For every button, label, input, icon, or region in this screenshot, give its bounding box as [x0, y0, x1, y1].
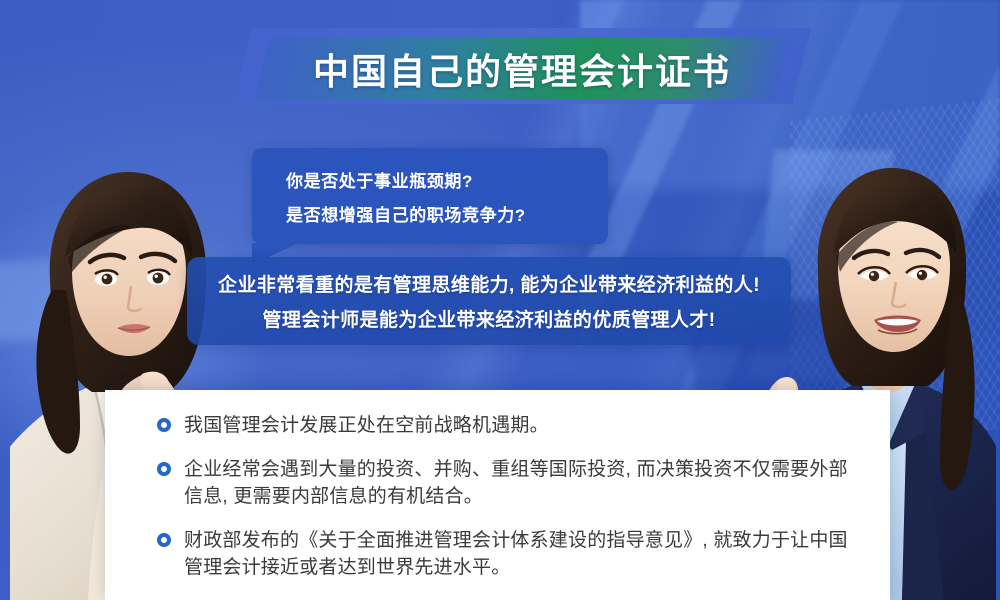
bullet-card: 我国管理会计发展正处在空前战略机遇期。 企业经常会遇到大量的投资、并购、重组等国… — [105, 390, 890, 600]
question-line-1: 你是否处于事业瓶颈期? — [286, 167, 608, 192]
bullet-ring-icon — [157, 418, 171, 432]
question-line-2: 是否想增强自己的职场竞争力? — [286, 201, 608, 226]
statement-bubble-text: 企业非常看重的是有管理思维能力, 能为企业带来经济利益的人! 管理会计师是能为企… — [187, 257, 791, 345]
promo-banner: 中国自己的管理会计证书 你是否处于事业瓶颈期? 是否想增强自己的职场竞争力? 企… — [0, 0, 1000, 600]
page-title: 中国自己的管理会计证书 — [262, 38, 782, 100]
statement-line-2: 管理会计师是能为企业带来经济利益的优质管理人才! — [263, 305, 716, 332]
question-bubble-text: 你是否处于事业瓶颈期? 是否想增强自己的职场竞争力? — [252, 148, 608, 244]
bullet-list: 我国管理会计发展正处在空前战略机遇期。 企业经常会遇到大量的投资、并购、重组等国… — [105, 390, 890, 598]
bullet-text-3: 财政部发布的《关于全面推进管理会计体系建设的指导意见》, 就致力于让中国管理会计… — [184, 527, 856, 582]
list-item: 财政部发布的《关于全面推进管理会计体系建设的指导意见》, 就致力于让中国管理会计… — [157, 527, 856, 582]
list-item: 企业经常会遇到大量的投资、并购、重组等国际投资, 而决策投资不仅需要外部信息, … — [157, 456, 856, 511]
statement-line-1: 企业非常看重的是有管理思维能力, 能为企业带来经济利益的人! — [218, 270, 760, 297]
bullet-text-2: 企业经常会遇到大量的投资、并购、重组等国际投资, 而决策投资不仅需要外部信息, … — [184, 456, 856, 511]
list-item: 我国管理会计发展正处在空前战略机遇期。 — [157, 412, 856, 440]
bullet-ring-icon — [157, 533, 171, 547]
bullet-text-1: 我国管理会计发展正处在空前战略机遇期。 — [184, 412, 549, 440]
bullet-ring-icon — [157, 462, 171, 476]
